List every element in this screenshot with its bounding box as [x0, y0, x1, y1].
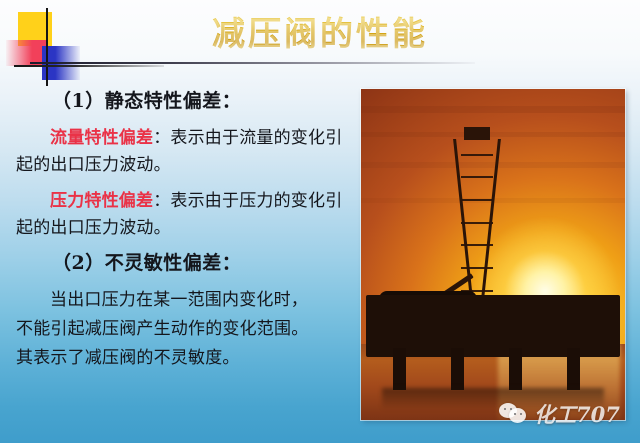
spacer: [16, 278, 356, 285]
platform-leg: [567, 348, 580, 390]
section-2-line-1: 当出口压力在某一范围内变化时，: [16, 287, 356, 314]
section-2-line-2: 不能引起减压阀产生动作的变化范围。: [16, 316, 356, 343]
wechat-eye: [504, 408, 506, 410]
platform-leg: [451, 348, 464, 390]
section-1-heading: （1）静态特性偏差：: [16, 86, 356, 116]
derrick-rung: [461, 222, 493, 224]
item-1-paragraph: 流量特性偏差：表示由于流量的变化引起的出口压力波动。: [16, 125, 356, 179]
title-divider-rule: [30, 62, 475, 64]
item-1-keyword: 流量特性偏差: [50, 128, 153, 148]
item-2-paragraph: 压力特性偏差：表示由于压力的变化引起的出口压力波动。: [16, 188, 356, 242]
cloud-band: [361, 106, 625, 113]
watermark-text: 化工707: [534, 399, 620, 429]
derrick-rung: [461, 176, 493, 178]
derrick-crown-block: [464, 127, 490, 140]
wechat-eye: [520, 413, 522, 415]
cloud-band: [361, 132, 625, 137]
derrick-rung: [461, 267, 493, 269]
section-2-line-3: 其表示了减压阀的不灵敏度。: [16, 345, 356, 372]
section-2-line-1-text: 当出口压力在某一范围内变化时，: [16, 287, 356, 314]
derrick-rung: [461, 199, 493, 201]
derrick-rung: [461, 244, 493, 246]
oil-rig-photo: [361, 89, 625, 420]
item-2-keyword: 压力特性偏差: [50, 191, 153, 211]
wechat-bubble-front: [509, 408, 526, 423]
section-2-heading: （2）不灵敏性偏差：: [16, 248, 356, 278]
slide-title: 减压阀的性能: [0, 7, 640, 55]
body-text-column: （1）静态特性偏差： 流量特性偏差：表示由于流量的变化引起的出口压力波动。 压力…: [16, 86, 356, 372]
platform-leg: [393, 348, 406, 390]
wechat-eye: [514, 413, 516, 415]
slide-canvas: 减压阀的性能 （1）静态特性偏差： 流量特性偏差：表示由于流量的变化引起的出口压…: [0, 0, 640, 443]
platform-leg: [509, 348, 522, 390]
wechat-icon: [499, 403, 529, 425]
spacer: [16, 116, 356, 123]
derrick-rung: [461, 154, 493, 156]
wechat-eye: [510, 408, 512, 410]
horizontal-bar-shape: [14, 65, 164, 67]
watermark: 化工707: [499, 399, 620, 429]
spacer: [16, 179, 356, 186]
